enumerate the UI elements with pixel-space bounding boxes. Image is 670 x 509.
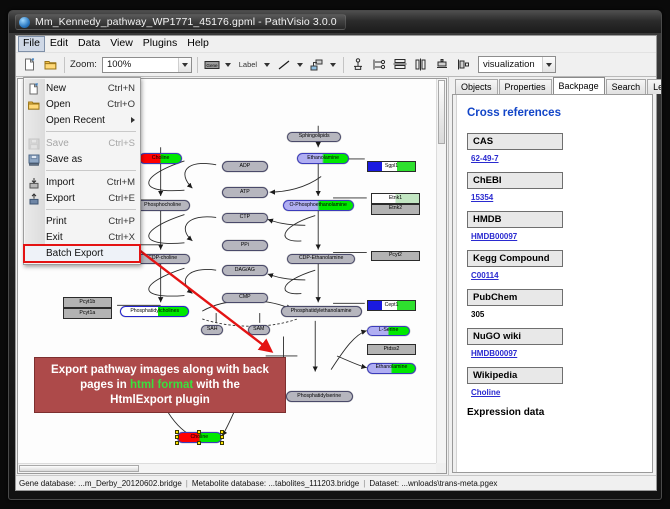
align-left-icon[interactable] bbox=[370, 56, 388, 74]
xref-link[interactable]: HMDB00097 bbox=[471, 232, 644, 241]
backpage-panel[interactable]: Cross references CAS62-49-7ChEBI15354HMD… bbox=[452, 94, 653, 473]
align-horizontal-center-icon[interactable] bbox=[391, 56, 409, 74]
toolbar-separator bbox=[64, 57, 65, 73]
xref-database-label: ChEBI bbox=[467, 172, 563, 189]
toolbar: Zoom: 100% Gene Label bbox=[16, 53, 656, 77]
file-menu-item-new[interactable]: NewCtrl+N bbox=[24, 80, 140, 96]
xref-database-label: Kegg Compound bbox=[467, 250, 563, 267]
status-gene-database: Gene database: ...m_Derby_20120602.bridg… bbox=[19, 479, 182, 488]
import-icon bbox=[27, 176, 40, 189]
menu-plugins[interactable]: Plugins bbox=[138, 36, 182, 52]
file-menu-item-save: SaveCtrl+S bbox=[24, 135, 140, 151]
window-title: Mm_Kennedy_pathway_WP1771_45176.gpml - P… bbox=[35, 16, 337, 28]
annotation-line-1: Export pathway images along with back bbox=[51, 364, 269, 376]
menu-view[interactable]: View bbox=[105, 36, 138, 52]
xref-link[interactable]: C00114 bbox=[471, 271, 644, 280]
file-menu-item-label: Open Recent bbox=[46, 115, 127, 126]
xref-block: PubChem305 bbox=[467, 289, 644, 319]
status-separator: | bbox=[186, 479, 188, 488]
zoom-combo[interactable]: 100% bbox=[102, 57, 192, 73]
menu-bar: File Edit Data View Plugins Help bbox=[16, 36, 656, 53]
chevron-down-icon[interactable] bbox=[263, 56, 272, 74]
file-menu-item-save-as[interactable]: Save as bbox=[24, 151, 140, 167]
xref-value: 305 bbox=[471, 310, 644, 319]
file-menu-item-label: Save bbox=[46, 138, 108, 149]
line-tool-icon[interactable] bbox=[275, 56, 293, 74]
file-menu-item-shortcut: Ctrl+P bbox=[108, 216, 135, 227]
xref-database-label: CAS bbox=[467, 133, 563, 150]
application-body: File Edit Data View Plugins Help Zoom: 1… bbox=[15, 35, 657, 491]
svg-text:Gene: Gene bbox=[206, 63, 218, 68]
new-file-button[interactable] bbox=[20, 56, 38, 74]
zoom-label: Zoom: bbox=[70, 59, 97, 70]
menu-separator bbox=[46, 170, 136, 171]
file-menu-item-label: Export bbox=[46, 193, 108, 204]
annotation-callout: Export pathway images along with back pa… bbox=[34, 357, 286, 413]
align-top-icon[interactable] bbox=[349, 56, 367, 74]
file-menu-dropdown[interactable]: NewCtrl+NOpenCtrl+OOpen RecentSaveCtrl+S… bbox=[23, 77, 141, 265]
xref-block: NuGO wikiHMDB00097 bbox=[467, 328, 644, 358]
tab-search[interactable]: Search bbox=[606, 79, 647, 94]
file-menu-item-label: New bbox=[46, 83, 108, 94]
toolbar-separator bbox=[197, 57, 198, 73]
tab-legend[interactable]: Legend bbox=[647, 79, 662, 94]
label-tool-icon[interactable]: Label bbox=[236, 56, 260, 74]
save-disk-icon bbox=[27, 137, 40, 150]
tab-properties[interactable]: Properties bbox=[499, 79, 552, 94]
chevron-right-icon bbox=[131, 117, 135, 123]
shape-tool-icon[interactable] bbox=[308, 56, 326, 74]
xref-database-label: PubChem bbox=[467, 289, 563, 306]
xref-block: WikipediaCholine bbox=[467, 367, 644, 397]
chevron-down-icon[interactable] bbox=[329, 56, 338, 74]
screenshot-root: Mm_Kennedy_pathway_WP1771_45176.gpml - P… bbox=[0, 0, 670, 509]
xref-database-label: NuGO wiki bbox=[467, 328, 563, 345]
toolbar-separator bbox=[343, 57, 344, 73]
menu-edit[interactable]: Edit bbox=[45, 36, 73, 52]
annotation-line-2-post: with the bbox=[193, 379, 240, 391]
status-bar: Gene database: ...m_Derby_20120602.bridg… bbox=[16, 475, 656, 490]
tab-objects[interactable]: Objects bbox=[455, 79, 498, 94]
xref-block: ChEBI15354 bbox=[467, 172, 644, 202]
datanode-tool-icon[interactable]: Gene bbox=[203, 56, 221, 74]
file-menu-item-import[interactable]: ImportCtrl+M bbox=[24, 174, 140, 190]
chevron-down-icon[interactable] bbox=[296, 56, 305, 74]
cross-reference-list: CAS62-49-7ChEBI15354HMDBHMDB00097Kegg Co… bbox=[463, 133, 644, 397]
file-menu-item-shortcut: Ctrl+M bbox=[107, 177, 135, 188]
expression-data-heading: Expression data bbox=[467, 407, 644, 418]
file-menu-item-batch-export[interactable]: Batch Export bbox=[24, 245, 140, 262]
backpage-title: Cross references bbox=[467, 107, 644, 119]
file-menu-item-open[interactable]: OpenCtrl+O bbox=[24, 96, 140, 112]
xref-link[interactable]: Choline bbox=[471, 388, 644, 397]
file-menu-item-label: Batch Export bbox=[46, 248, 135, 259]
open-folder-button[interactable] bbox=[41, 56, 59, 74]
file-menu-item-shortcut: Ctrl+O bbox=[107, 99, 135, 110]
xref-link[interactable]: 15354 bbox=[471, 193, 644, 202]
chevron-down-icon[interactable] bbox=[178, 58, 191, 72]
file-menu-item-shortcut: Ctrl+E bbox=[108, 193, 135, 204]
xref-database-label: Wikipedia bbox=[467, 367, 563, 384]
chevron-down-icon[interactable] bbox=[224, 56, 233, 74]
xref-block: Kegg CompoundC00114 bbox=[467, 250, 644, 280]
visualization-combo[interactable]: visualization bbox=[478, 56, 556, 73]
menu-data[interactable]: Data bbox=[73, 36, 105, 52]
menu-help[interactable]: Help bbox=[182, 36, 214, 52]
file-menu-item-label: Save as bbox=[46, 154, 135, 165]
annotation-line-2-pre: pages in bbox=[80, 379, 130, 391]
pathvisio-icon bbox=[19, 17, 30, 28]
xref-link[interactable]: HMDB00097 bbox=[471, 349, 644, 358]
new-file-icon bbox=[27, 82, 40, 95]
zoom-value: 100% bbox=[107, 59, 178, 70]
file-menu-item-open-recent[interactable]: Open Recent bbox=[24, 112, 140, 128]
open-folder-icon bbox=[27, 98, 40, 111]
file-menu-item-export[interactable]: ExportCtrl+E bbox=[24, 190, 140, 206]
menu-separator bbox=[46, 131, 136, 132]
titlebar-label-group: Mm_Kennedy_pathway_WP1771_45176.gpml - P… bbox=[15, 14, 346, 30]
xref-link[interactable]: 62-49-7 bbox=[471, 154, 644, 163]
status-dataset: Dataset: ...wnloads\trans-meta.pgex bbox=[369, 479, 497, 488]
file-menu-item-exit[interactable]: ExitCtrl+X bbox=[24, 229, 140, 245]
visualization-value: visualization bbox=[483, 59, 542, 70]
same-width-icon[interactable] bbox=[433, 56, 451, 74]
menu-separator bbox=[46, 209, 136, 210]
file-menu-item-shortcut: Ctrl+N bbox=[108, 83, 135, 94]
export-icon bbox=[27, 192, 40, 205]
side-panel-tabs: ObjectsPropertiesBackpageSearchLegend bbox=[449, 77, 656, 94]
xref-block: HMDBHMDB00097 bbox=[467, 211, 644, 241]
file-menu-item-print[interactable]: PrintCtrl+P bbox=[24, 213, 140, 229]
annotation-line-2-highlight: html format bbox=[130, 379, 193, 391]
menu-file[interactable]: File bbox=[18, 36, 45, 52]
window-titlebar: Mm_Kennedy_pathway_WP1771_45176.gpml - P… bbox=[9, 11, 662, 33]
file-menu-item-label: Import bbox=[46, 177, 107, 188]
align-vertical-center-icon[interactable] bbox=[412, 56, 430, 74]
label-tool-text: Label bbox=[239, 60, 257, 69]
application-window: Mm_Kennedy_pathway_WP1771_45176.gpml - P… bbox=[8, 10, 662, 500]
annotation-text: Export pathway images along with back pa… bbox=[51, 363, 269, 408]
file-menu-item-label: Print bbox=[46, 216, 108, 227]
xref-block: CAS62-49-7 bbox=[467, 133, 644, 163]
chevron-down-icon[interactable] bbox=[542, 57, 555, 72]
same-height-icon[interactable] bbox=[454, 56, 472, 74]
annotation-line-3: HtmlExport plugin bbox=[110, 394, 210, 406]
backpage-scroll-gutter[interactable] bbox=[453, 95, 457, 472]
xref-database-label: HMDB bbox=[467, 211, 563, 228]
file-menu-item-shortcut: Ctrl+S bbox=[108, 138, 135, 149]
save-as-icon bbox=[27, 153, 40, 166]
side-panel: ObjectsPropertiesBackpageSearchLegend Cr… bbox=[448, 77, 656, 475]
status-metabolite-database: Metabolite database: ...tabolites_111203… bbox=[192, 479, 359, 488]
file-menu-item-label: Exit bbox=[46, 232, 108, 243]
status-separator: | bbox=[363, 479, 365, 488]
file-menu-item-label: Open bbox=[46, 99, 107, 110]
tab-backpage[interactable]: Backpage bbox=[553, 77, 605, 94]
file-menu-item-shortcut: Ctrl+X bbox=[108, 232, 135, 243]
